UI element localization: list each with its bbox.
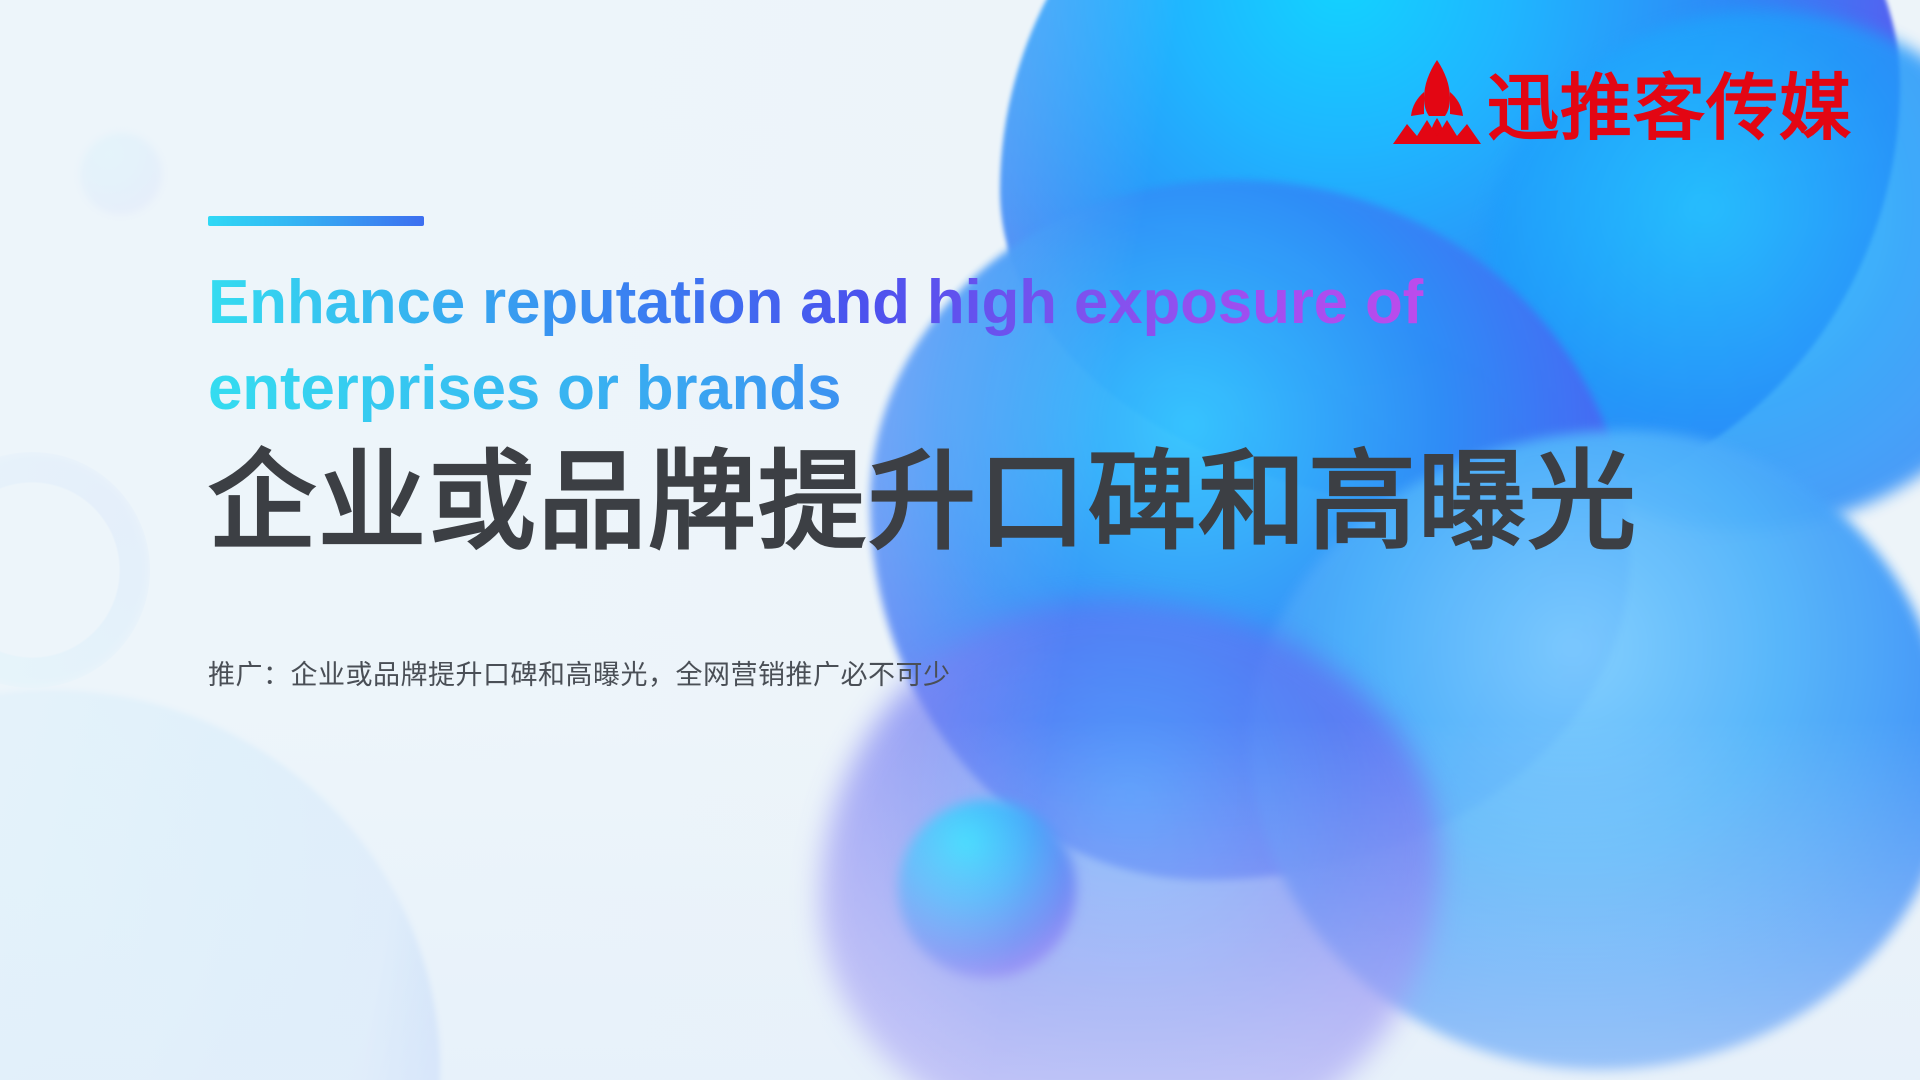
gradient-sphere-top-left	[80, 133, 162, 215]
brand-logo-text: 迅推客传媒	[1487, 74, 1852, 142]
gradient-ring-left	[0, 452, 150, 688]
headline-english-line1: Enhance reputation and high exposure of	[208, 260, 1508, 346]
brand-logo[interactable]: 迅推客传媒	[1391, 58, 1852, 144]
gradient-sphere-bottom-center	[898, 800, 1076, 978]
gradient-blob-bottom-left	[0, 690, 440, 1080]
rocket-icon	[1391, 58, 1483, 144]
accent-bar	[208, 216, 424, 226]
headline-english: Enhance reputation and high exposure of …	[208, 260, 1508, 431]
poster-canvas: 迅推客传媒 Enhance reputation and high exposu…	[0, 0, 1920, 1080]
subtitle-text: 推广：企业或品牌提升口碑和高曝光，全网营销推广必不可少	[208, 653, 1768, 692]
headline-chinese: 企业或品牌提升口碑和高曝光	[208, 437, 1768, 569]
headline-english-line2: enterprises or brands	[208, 346, 1508, 432]
